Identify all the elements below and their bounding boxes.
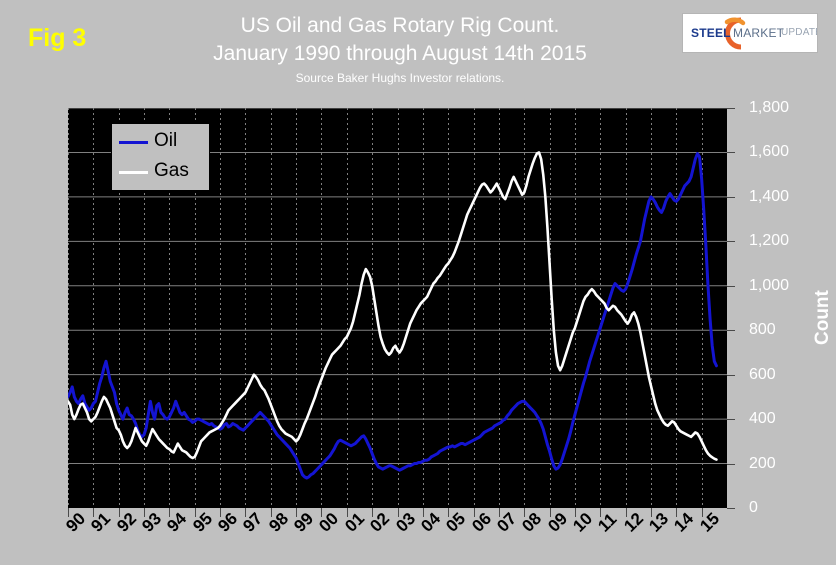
x-tick-label: 13: [646, 510, 671, 535]
chart-canvas: Fig 3 US Oil and Gas Rotary Rig Count. J…: [0, 0, 836, 565]
x-axis-tick-mark: [575, 508, 576, 517]
x-tick-label: 02: [367, 510, 392, 535]
x-tick-label: 93: [139, 510, 164, 535]
x-tick-label: 06: [469, 510, 494, 535]
x-tick-label: 99: [291, 510, 316, 535]
y-tick-label: 600: [749, 367, 776, 383]
x-tick-label: 92: [114, 510, 139, 535]
y-axis-tick-mark: [727, 241, 735, 242]
y-tick-label: 200: [749, 456, 776, 472]
y-axis-tick-mark: [727, 152, 735, 153]
x-tick-label: 11: [595, 510, 620, 535]
chart-title-block: US Oil and Gas Rotary Rig Count. January…: [120, 12, 680, 87]
x-axis-tick-mark: [321, 508, 322, 517]
series-line-gas: [68, 152, 716, 459]
x-tick-label: 96: [215, 510, 240, 535]
x-tick-label: 95: [190, 510, 215, 535]
x-axis-tick-mark: [347, 508, 348, 517]
x-axis-tick-mark: [423, 508, 424, 517]
x-axis-tick-mark: [448, 508, 449, 517]
y-axis-tick-mark: [727, 197, 735, 198]
x-axis-tick-mark: [372, 508, 373, 517]
figure-label: Fig 3: [28, 26, 86, 51]
x-tick-label: 07: [494, 510, 519, 535]
x-axis-tick-mark: [68, 508, 69, 517]
x-axis-tick-mark: [296, 508, 297, 517]
legend-swatch-oil: [119, 141, 148, 144]
chart-title-line-1: US Oil and Gas Rotary Rig Count.: [120, 12, 680, 40]
x-axis-tick-mark: [626, 508, 627, 517]
y-tick-label: 1,600: [749, 144, 789, 160]
x-tick-label: 01: [342, 510, 367, 535]
legend-item-oil: Oil: [112, 128, 209, 157]
x-axis-tick-mark: [651, 508, 652, 517]
y-tick-label: 1,200: [749, 233, 789, 249]
x-tick-label: 98: [266, 510, 291, 535]
y-tick-label: 800: [749, 322, 776, 338]
logo-word-market: MARKET: [733, 26, 784, 40]
y-axis-title: Count: [812, 290, 834, 345]
x-tick-label: 04: [418, 510, 443, 535]
x-axis-tick-mark: [271, 508, 272, 517]
x-axis-tick-mark: [144, 508, 145, 517]
legend-item-gas: Gas: [112, 158, 209, 187]
y-axis-tick-mark: [727, 375, 735, 376]
x-tick-label: 10: [570, 510, 595, 535]
x-axis-tick-mark: [169, 508, 170, 517]
x-axis-tick-mark: [245, 508, 246, 517]
y-tick-label: 1,400: [749, 189, 789, 205]
chart-title-line-2: January 1990 through August 14th 2015: [120, 40, 680, 68]
steel-market-update-logo: STEEL MARKET UPDATE: [682, 13, 818, 53]
y-axis-tick-mark: [727, 508, 735, 509]
x-axis-tick-mark: [93, 508, 94, 517]
y-axis-tick-mark: [727, 286, 735, 287]
x-tick-label: 05: [443, 510, 468, 535]
x-axis-tick-mark: [474, 508, 475, 517]
x-axis-tick-mark: [676, 508, 677, 517]
x-axis-tick-mark: [600, 508, 601, 517]
data-series-layer: [68, 152, 716, 478]
y-tick-label: 1,800: [749, 100, 789, 116]
legend-label-oil: Oil: [154, 131, 177, 150]
logo-word-steel: STEEL: [691, 26, 731, 40]
x-tick-label: 09: [545, 510, 570, 535]
chart-legend: Oil Gas: [111, 123, 210, 191]
legend-swatch-gas: [119, 171, 148, 174]
y-axis-tick-mark: [727, 419, 735, 420]
x-tick-label: 15: [697, 510, 722, 535]
y-tick-label: 400: [749, 411, 776, 427]
chart-source-subtitle: Source Baker Hughs Investor relations.: [120, 69, 680, 87]
x-axis-tick-mark: [499, 508, 500, 517]
x-tick-label: 12: [621, 510, 646, 535]
x-tick-label: 03: [393, 510, 418, 535]
x-tick-label: 90: [63, 510, 88, 535]
x-axis-tick-mark: [524, 508, 525, 517]
x-axis-tick-mark: [702, 508, 703, 517]
legend-label-gas: Gas: [154, 161, 189, 180]
logo-word-update: UPDATE: [781, 27, 818, 38]
logo-inner: STEEL MARKET UPDATE: [683, 14, 817, 52]
y-axis-tick-mark: [727, 464, 735, 465]
y-tick-label: 0: [749, 500, 758, 516]
x-axis-tick-mark: [220, 508, 221, 517]
x-axis-tick-mark: [119, 508, 120, 517]
y-axis-tick-mark: [727, 108, 735, 109]
series-line-oil: [68, 154, 716, 478]
y-tick-label: 1,000: [749, 278, 789, 294]
x-axis-tick-mark: [195, 508, 196, 517]
y-axis-tick-mark: [727, 330, 735, 331]
x-axis-tick-mark: [550, 508, 551, 517]
x-axis-tick-mark: [398, 508, 399, 517]
